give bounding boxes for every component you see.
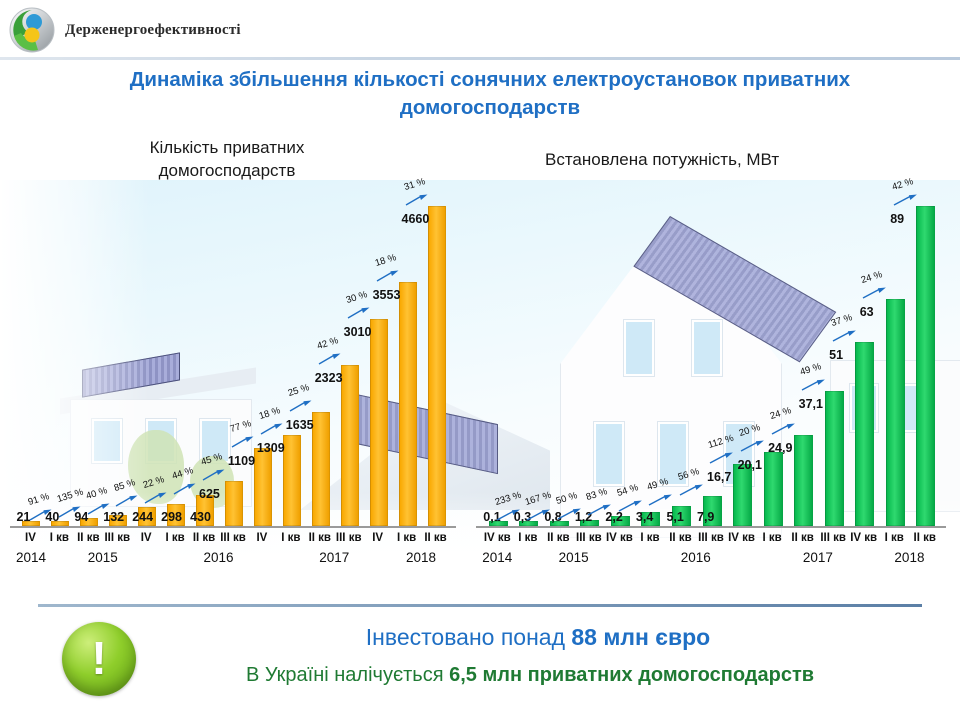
x-tick-year: 2015	[45, 550, 161, 565]
bar-value-label: 51	[829, 348, 843, 362]
x-tick-quarter: II кв	[305, 532, 334, 544]
growth-percent-label: 25 %	[287, 383, 311, 400]
growth-percent-label: 50 %	[555, 490, 579, 507]
chart-capacity: 0,1233 %0,3167 %0,850 %1,283 %2,254 %3,4…	[468, 180, 960, 580]
x-tick-year: 2016	[161, 550, 277, 565]
bar-9	[764, 452, 783, 526]
x-tick-quarter: II кв	[421, 532, 450, 544]
right-chart-subtitle: Встановлена потужність, МВт	[545, 148, 875, 171]
bar-13	[886, 299, 905, 526]
growth-arrow-icon	[114, 494, 139, 503]
x-tick-quarter: II кв	[787, 532, 818, 544]
brand: Держенергоефективності	[8, 6, 241, 54]
growth-percent-label: 167 %	[524, 490, 553, 508]
footer-line-1-prefix: Інвестовано понад	[366, 624, 572, 650]
bar-7	[225, 481, 243, 526]
leaf-globe-logo-icon	[8, 6, 56, 54]
x-tick-year: 2015	[513, 550, 635, 565]
growth-percent-label: 56 %	[677, 466, 701, 483]
growth-percent-label: 18 %	[374, 252, 398, 269]
x-tick-quarter: I кв	[879, 532, 910, 544]
x-tick-quarter: I кв	[45, 532, 74, 544]
growth-arrow-icon	[739, 439, 766, 448]
x-tick-quarter: IV кв	[604, 532, 635, 544]
growth-percent-label: 135 %	[55, 486, 84, 504]
bar-value-label: 7,9	[697, 510, 714, 524]
bar-10	[794, 435, 813, 526]
chart-capacity-plot: 0,1233 %0,3167 %0,850 %1,283 %2,254 %3,4…	[468, 180, 960, 528]
growth-percent-label: 22 %	[142, 474, 166, 491]
exclamation-circle-icon	[62, 622, 136, 696]
growth-percent-label: 77 %	[229, 418, 253, 435]
bar-8	[254, 448, 272, 526]
growth-percent-label: 18 %	[258, 405, 282, 422]
x-tick-quarter: II кв	[665, 532, 696, 544]
growth-arrow-icon	[172, 482, 197, 491]
growth-percent-label: 83 %	[585, 486, 609, 503]
bar-value-label: 89	[890, 212, 904, 226]
x-tick-quarter: III кв	[334, 532, 363, 544]
x-tick-year: 2017	[276, 550, 392, 565]
growth-arrow-icon	[201, 468, 226, 477]
bar-value-label: 24,9	[768, 441, 792, 455]
growth-arrow-icon	[861, 286, 888, 295]
growth-percent-label: 37 %	[829, 312, 853, 329]
footer: Інвестовано понад 88 млн євро В Україні …	[38, 612, 922, 706]
x-tick-year: 2014	[16, 550, 45, 565]
bar-value-label: 3010	[344, 325, 372, 339]
x-tick-quarter: IV	[363, 532, 392, 544]
chart-households-plot: 2191 %40135 %9440 %13285 %24422 %29844 %…	[0, 180, 470, 528]
x-tick-quarter: I кв	[392, 532, 421, 544]
bar-8	[733, 464, 752, 526]
slide: Держенергоефективності Динаміка збільшен…	[0, 0, 960, 720]
bar-10	[312, 412, 330, 526]
x-axis-line	[476, 526, 946, 528]
growth-arrow-icon	[892, 193, 919, 202]
growth-arrow-icon	[259, 422, 284, 431]
footer-line-2-highlight: 6,5 млн приватних домогосподарств	[449, 664, 814, 686]
growth-arrow-icon	[375, 269, 400, 278]
growth-arrow-icon	[317, 352, 342, 361]
growth-percent-label: 49 %	[646, 476, 670, 493]
x-tick-quarter: IV	[16, 532, 45, 544]
bar-value-label: 430	[190, 510, 211, 524]
bar-value-label: 63	[860, 305, 874, 319]
bar-value-label: 132	[103, 510, 124, 524]
chart-capacity-x-axis: IV квI квII квIII квIV квI квII квIII кв…	[468, 532, 960, 576]
bar-value-label: 625	[199, 487, 220, 501]
footer-line-2: В Україні налічується 6,5 млн приватних …	[138, 660, 922, 690]
x-tick-quarter: I кв	[757, 532, 788, 544]
bar-value-label: 244	[132, 510, 153, 524]
x-tick-quarter: III кв	[103, 532, 132, 544]
bar-11	[341, 365, 359, 526]
growth-percent-label: 45 %	[200, 452, 224, 469]
x-tick-quarter: IV кв	[726, 532, 757, 544]
x-tick-quarter: III кв	[696, 532, 727, 544]
x-tick-quarter: IV	[132, 532, 161, 544]
growth-percent-label: 91 %	[26, 491, 50, 508]
growth-percent-label: 24 %	[860, 269, 884, 286]
x-tick-quarter: III кв	[574, 532, 605, 544]
bar-value-label: 1635	[286, 418, 314, 432]
growth-percent-label: 40 %	[84, 485, 108, 502]
bar-value-label: 3553	[373, 288, 401, 302]
growth-percent-label: 30 %	[345, 289, 369, 306]
growth-percent-label: 44 %	[171, 465, 195, 482]
growth-arrow-icon	[647, 493, 674, 502]
bar-value-label: 2323	[315, 371, 343, 385]
x-axis-line	[10, 526, 456, 528]
x-tick-quarter: II кв	[190, 532, 219, 544]
footer-line-1: Інвестовано понад 88 млн євро	[158, 620, 918, 654]
bar-value-label: 37,1	[799, 397, 823, 411]
x-tick-quarter: I кв	[513, 532, 544, 544]
footer-divider	[38, 604, 922, 607]
x-tick-year: 2014	[482, 550, 513, 565]
bar-9	[283, 435, 301, 526]
x-tick-year: 2017	[757, 550, 879, 565]
bar-value-label: 298	[161, 510, 182, 524]
x-tick-quarter: IV кв	[482, 532, 513, 544]
bar-12	[370, 319, 388, 526]
header-divider	[0, 57, 960, 60]
growth-arrow-icon	[800, 378, 827, 387]
bar-14	[428, 206, 446, 526]
x-tick-quarter: I кв	[276, 532, 305, 544]
growth-percent-label: 112 %	[707, 433, 735, 451]
bar-value-label: 5,1	[666, 510, 683, 524]
bar-value-label: 4660	[402, 212, 430, 226]
x-tick-quarter: III кв	[219, 532, 248, 544]
growth-arrow-icon	[708, 451, 735, 460]
growth-percent-label: 54 %	[616, 482, 640, 499]
growth-arrow-icon	[346, 306, 371, 315]
x-tick-quarter: II кв	[74, 532, 103, 544]
x-tick-quarter: III кв	[818, 532, 849, 544]
chart-households: 2191 %40135 %9440 %13285 %24422 %29844 %…	[0, 180, 470, 580]
bar-value-label: 16,7	[707, 470, 731, 484]
growth-arrow-icon	[404, 193, 429, 202]
bar-value-label: 20,1	[738, 458, 762, 472]
bar-12	[855, 342, 874, 526]
growth-percent-label: 20 %	[738, 422, 762, 439]
footer-line-2-prefix: В Україні налічується	[246, 664, 449, 686]
left-chart-subtitle: Кількість приватних домогосподарств	[112, 136, 342, 182]
bar-14	[916, 206, 935, 526]
bar-11	[825, 391, 844, 526]
growth-percent-label: 31 %	[403, 176, 427, 193]
x-tick-year: 2018	[392, 550, 450, 565]
chart-households-x-axis: IVI квII квIII квIVI квII квIII квIVI кв…	[0, 532, 470, 576]
bar-value-label: 1309	[257, 441, 285, 455]
growth-arrow-icon	[831, 329, 858, 338]
growth-percent-label: 85 %	[113, 478, 137, 495]
growth-arrow-icon	[288, 399, 313, 408]
x-tick-quarter: II кв	[543, 532, 574, 544]
growth-percent-label: 42 %	[890, 176, 914, 193]
page-title: Динаміка збільшення кількості сонячних е…	[110, 66, 870, 122]
bar-13	[399, 282, 417, 526]
growth-arrow-icon	[770, 422, 797, 431]
growth-percent-label: 42 %	[316, 336, 340, 353]
growth-percent-label: 233 %	[494, 490, 523, 508]
header: Держенергоефективності	[0, 0, 960, 58]
x-tick-year: 2018	[879, 550, 940, 565]
growth-percent-label: 24 %	[768, 405, 792, 422]
x-tick-quarter: I кв	[161, 532, 190, 544]
org-name: Держенергоефективності	[65, 22, 241, 39]
footer-line-1-highlight: 88 млн євро	[571, 624, 710, 650]
bar-value-label: 3,4	[636, 510, 653, 524]
growth-arrow-icon	[143, 491, 168, 500]
x-tick-quarter: IV кв	[848, 532, 879, 544]
bar-value-label: 1109	[228, 454, 255, 468]
growth-percent-label: 49 %	[799, 362, 823, 379]
growth-arrow-icon	[678, 483, 705, 492]
x-tick-quarter: I кв	[635, 532, 666, 544]
x-tick-quarter: IV	[247, 532, 276, 544]
growth-arrow-icon	[230, 435, 255, 444]
x-tick-quarter: II кв	[909, 532, 940, 544]
x-tick-year: 2016	[635, 550, 757, 565]
growth-arrow-icon	[617, 499, 644, 508]
